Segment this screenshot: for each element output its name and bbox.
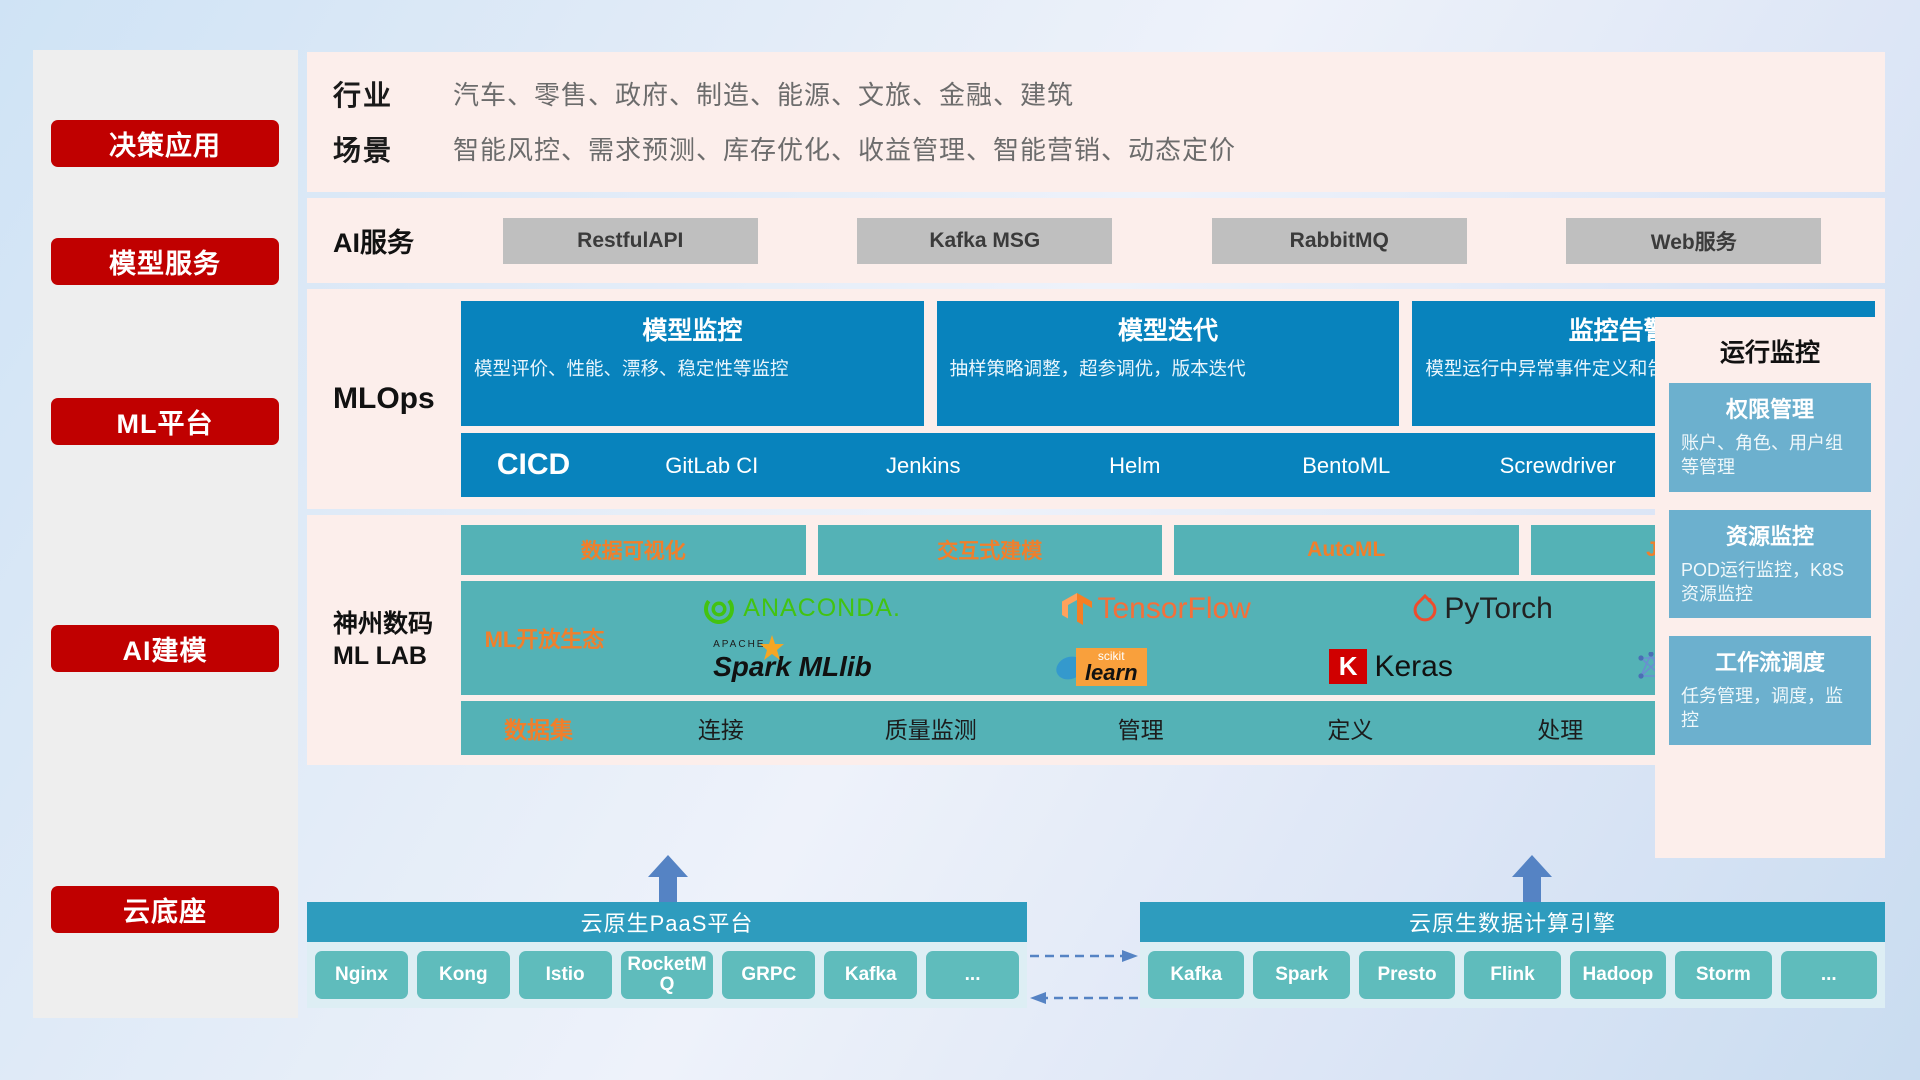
dataset-item-define[interactable]: 定义 xyxy=(1245,711,1455,745)
cloud-chip-grpc[interactable]: GRPC xyxy=(722,951,815,999)
keras-logo: K Keras xyxy=(1329,649,1453,684)
band-decision-apps: 行业 汽车、零售、政府、制造、能源、文旅、金融、建筑 场景 智能风控、需求预测、… xyxy=(307,52,1885,192)
ml-lab-tab-data-viz[interactable]: 数据可视化 xyxy=(461,525,806,575)
monitor-card-desc: 任务管理，调度，监控 xyxy=(1681,684,1859,733)
band-mlops: MLOps 模型监控 模型评价、性能、漂移、稳定性等监控 模型迭代 抽样策略调整… xyxy=(307,289,1885,509)
cloud-chip-rocketmq[interactable]: RocketMQ xyxy=(621,951,714,999)
cloud-chip-kafka[interactable]: Kafka xyxy=(824,951,917,999)
cloud-chip-flink[interactable]: Flink xyxy=(1464,951,1560,999)
mlops-card-model-monitoring[interactable]: 模型监控 模型评价、性能、漂移、稳定性等监控 xyxy=(461,301,924,426)
rail-pill-cloud-base[interactable]: 云底座 xyxy=(51,886,279,933)
pytorch-logo: PyTorch xyxy=(1411,592,1552,626)
dataset-item-connect[interactable]: 连接 xyxy=(616,711,826,745)
cloud-chip-kong[interactable]: Kong xyxy=(417,951,510,999)
tensorflow-logo: TensorFlow xyxy=(1061,591,1250,627)
cicd-title: CICD xyxy=(461,448,606,482)
ai-service-label: AI服务 xyxy=(333,221,453,260)
ai-service-chip-rabbitmq[interactable]: RabbitMQ xyxy=(1212,218,1467,264)
cloud-data-engine-group: 云原生数据计算引擎 Kafka Spark Presto Flink Hadoo… xyxy=(1140,902,1885,1008)
rail-pill-ai-modeling[interactable]: AI建模 xyxy=(51,625,279,672)
cloud-chip-istio[interactable]: Istio xyxy=(519,951,612,999)
cloud-data-engine-chip-list: Kafka Spark Presto Flink Hadoop Storm ..… xyxy=(1140,942,1885,1008)
monitor-column: 运行监控 权限管理 账户、角色、用户组等管理 资源监控 POD运行监控，K8S资… xyxy=(1655,317,1885,858)
anaconda-logo-text: ANACONDA. xyxy=(743,594,901,623)
cicd-item-gitlab-ci[interactable]: GitLab CI xyxy=(606,454,818,477)
ai-service-chip-list: RestfulAPI Kafka MSG RabbitMQ Web服务 xyxy=(453,218,1885,264)
cloud-chip-more[interactable]: ... xyxy=(1781,951,1877,999)
industry-label: 行业 xyxy=(333,74,453,114)
ai-service-chip-restfulapi[interactable]: RestfulAPI xyxy=(503,218,758,264)
cicd-item-screwdriver[interactable]: Screwdriver xyxy=(1452,454,1664,477)
cloud-chip-hadoop[interactable]: Hadoop xyxy=(1570,951,1666,999)
monitor-card-permission[interactable]: 权限管理 账户、角色、用户组等管理 xyxy=(1669,383,1871,492)
monitor-card-resource[interactable]: 资源监控 POD运行监控，K8S资源监控 xyxy=(1669,510,1871,619)
cloud-paas-group: 云原生PaaS平台 Nginx Kong Istio RocketMQ GRPC… xyxy=(307,902,1027,1008)
mlops-card-title: 模型迭代 xyxy=(950,311,1387,347)
cloud-chip-spark[interactable]: Spark xyxy=(1253,951,1349,999)
band-ai-service: AI服务 RestfulAPI Kafka MSG RabbitMQ Web服务 xyxy=(307,198,1885,283)
rail-pill-ml-platform[interactable]: ML平台 xyxy=(51,398,279,445)
scikit-bottom-text: learn xyxy=(1085,662,1138,684)
ml-lab-label-line2: ML LAB xyxy=(333,640,433,673)
ai-service-chip-web[interactable]: Web服务 xyxy=(1566,218,1821,264)
ml-lab-label: 神州数码 ML LAB xyxy=(333,525,461,755)
keras-logo-text: Keras xyxy=(1374,650,1452,684)
keras-mark: K xyxy=(1329,649,1368,684)
monitor-card-title: 权限管理 xyxy=(1681,392,1859,424)
spark-apache-text: APACHE xyxy=(713,639,765,650)
cloud-chip-nginx[interactable]: Nginx xyxy=(315,951,408,999)
cloud-chip-kafka[interactable]: Kafka xyxy=(1148,951,1244,999)
scenario-list: 智能风控、需求预测、库存优化、收益管理、智能营销、动态定价 xyxy=(453,130,1236,167)
dataset-item-process[interactable]: 处理 xyxy=(1455,711,1665,745)
ai-service-chip-kafka-msg[interactable]: Kafka MSG xyxy=(857,218,1112,264)
rail-pill-model-service[interactable]: 模型服务 xyxy=(51,238,279,285)
spark-mllib-text: Spark MLlib xyxy=(713,651,872,683)
ml-lab-tab-automl[interactable]: AutoML xyxy=(1174,525,1519,575)
monitor-card-title: 工作流调度 xyxy=(1681,645,1859,677)
up-arrow-left-icon xyxy=(648,855,688,903)
cloud-chip-storm[interactable]: Storm xyxy=(1675,951,1771,999)
scikit-learn-logo: scikit learn xyxy=(1054,648,1147,686)
monitor-card-title: 资源监控 xyxy=(1681,519,1859,551)
cloud-chip-more[interactable]: ... xyxy=(926,951,1019,999)
ml-lab-label-line1: 神州数码 xyxy=(333,608,433,641)
cicd-item-jenkins[interactable]: Jenkins xyxy=(818,454,1030,477)
main-column: 行业 汽车、零售、政府、制造、能源、文旅、金融、建筑 场景 智能风控、需求预测、… xyxy=(307,52,1885,765)
monitor-card-workflow[interactable]: 工作流调度 任务管理，调度，监控 xyxy=(1669,636,1871,745)
dataset-item-quality-monitor[interactable]: 质量监测 xyxy=(826,711,1036,745)
diagram-canvas: 决策应用 模型服务 ML平台 AI建模 云底座 行业 汽车、零售、政府、制造、能… xyxy=(0,0,1920,1080)
monitor-card-desc: POD运行监控，K8S资源监控 xyxy=(1681,558,1859,607)
industry-row: 行业 汽车、零售、政府、制造、能源、文旅、金融、建筑 xyxy=(333,66,1885,121)
band-ml-lab: 神州数码 ML LAB 数据可视化 交互式建模 AutoML JupyterLa… xyxy=(307,515,1885,765)
up-arrow-right-icon xyxy=(1512,855,1552,903)
mlops-card-title: 模型监控 xyxy=(474,311,911,347)
dataset-item-manage[interactable]: 管理 xyxy=(1036,711,1246,745)
scenario-row: 场景 智能风控、需求预测、库存优化、收益管理、智能营销、动态定价 xyxy=(333,121,1885,176)
ml-ecosystem-label: ML开放生态 xyxy=(467,622,622,654)
cloud-paas-chip-list: Nginx Kong Istio RocketMQ GRPC Kafka ... xyxy=(307,942,1027,1008)
cicd-item-bentoml[interactable]: BentoML xyxy=(1241,454,1453,477)
mlops-card-desc: 模型评价、性能、漂移、稳定性等监控 xyxy=(474,356,911,382)
ml-lab-tab-interactive-modeling[interactable]: 交互式建模 xyxy=(818,525,1163,575)
industry-list: 汽车、零售、政府、制造、能源、文旅、金融、建筑 xyxy=(453,75,1074,112)
spark-mllib-logo: APACHE Spark MLlib xyxy=(713,651,872,683)
pytorch-logo-text: PyTorch xyxy=(1444,592,1552,626)
cloud-chip-presto[interactable]: Presto xyxy=(1359,951,1455,999)
rail-pill-decision[interactable]: 决策应用 xyxy=(51,120,279,167)
dataset-label: 数据集 xyxy=(461,711,616,745)
mlops-card-model-iteration[interactable]: 模型迭代 抽样策略调整，超参调优，版本迭代 xyxy=(937,301,1400,426)
mlops-card-desc: 抽样策略调整，超参调优，版本迭代 xyxy=(950,356,1387,382)
cicd-item-helm[interactable]: Helm xyxy=(1029,454,1241,477)
layer-rail: 决策应用 模型服务 ML平台 AI建模 云底座 xyxy=(33,50,298,1018)
scenario-label: 场景 xyxy=(333,129,453,169)
anaconda-logo: ANACONDA. xyxy=(702,592,901,626)
tensorflow-logo-text: TensorFlow xyxy=(1097,592,1250,626)
cloud-paas-title: 云原生PaaS平台 xyxy=(307,902,1027,942)
bidirectional-dashed-link-icon xyxy=(1030,940,1138,1010)
monitor-title: 运行监控 xyxy=(1669,333,1871,369)
monitor-card-desc: 账户、角色、用户组等管理 xyxy=(1681,431,1859,480)
mlops-label: MLOps xyxy=(333,301,461,497)
cloud-data-engine-title: 云原生数据计算引擎 xyxy=(1140,902,1885,942)
